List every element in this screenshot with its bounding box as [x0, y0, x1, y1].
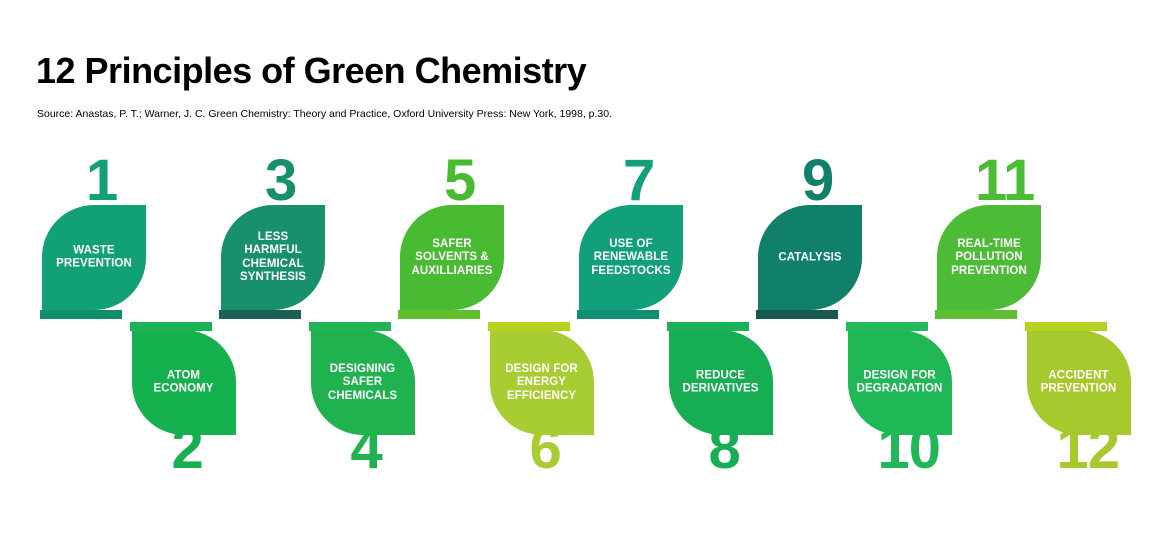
principle-number-8: 8	[709, 420, 740, 478]
principle-label-9: CATALYSIS	[758, 251, 862, 265]
infographic-canvas: 12 Principles of Green Chemistry Source:…	[0, 0, 1155, 539]
principle-label-12: ACCIDENT PREVENTION	[1027, 369, 1131, 396]
principle-number-5: 5	[444, 152, 475, 210]
principle-number-12: 12	[1057, 420, 1120, 478]
leaf-shape-11[interactable]: REAL-TIME POLLUTION PREVENTION	[937, 205, 1041, 310]
principle-number-4: 4	[351, 420, 382, 478]
connector-bar-1	[40, 310, 122, 319]
leaf-shape-1[interactable]: WASTE PREVENTION	[42, 205, 146, 310]
principle-number-2: 2	[172, 420, 203, 478]
principle-number-1: 1	[86, 152, 117, 210]
source-citation: Source: Anastas, P. T.; Warner, J. C. Gr…	[37, 108, 612, 120]
page-title: 12 Principles of Green Chemistry	[36, 53, 586, 89]
connector-bar-3	[219, 310, 301, 319]
connector-bar-9	[756, 310, 838, 319]
principle-number-7: 7	[623, 152, 654, 210]
principle-label-7: USE OF RENEWABLE FEEDSTOCKS	[579, 237, 683, 278]
principle-label-8: REDUCE DERIVATIVES	[669, 369, 773, 396]
principle-label-11: REAL-TIME POLLUTION PREVENTION	[937, 237, 1041, 278]
connector-bar-6	[488, 322, 570, 331]
connector-bar-11	[935, 310, 1017, 319]
leaf-shape-3[interactable]: LESS HARMFUL CHEMICAL SYNTHESIS	[221, 205, 325, 310]
principle-number-9: 9	[802, 152, 833, 210]
principle-number-11: 11	[975, 152, 1034, 210]
principle-number-3: 3	[265, 152, 296, 210]
connector-bar-10	[846, 322, 928, 331]
principle-label-3: LESS HARMFUL CHEMICAL SYNTHESIS	[221, 231, 325, 285]
principle-number-6: 6	[530, 420, 561, 478]
principle-label-2: ATOM ECONOMY	[132, 369, 236, 396]
principle-label-1: WASTE PREVENTION	[42, 244, 146, 271]
principle-label-10: DESIGN FOR DEGRADATION	[848, 369, 952, 396]
principle-label-5: SAFER SOLVENTS & AUXILLIARIES	[400, 237, 504, 278]
connector-bar-7	[577, 310, 659, 319]
principle-number-10: 10	[878, 420, 941, 478]
leaf-shape-5[interactable]: SAFER SOLVENTS & AUXILLIARIES	[400, 205, 504, 310]
connector-bar-12	[1025, 322, 1107, 331]
connector-bar-2	[130, 322, 212, 331]
connector-bar-8	[667, 322, 749, 331]
principle-label-4: DESIGNING SAFER CHEMICALS	[311, 362, 415, 403]
leaf-shape-7[interactable]: USE OF RENEWABLE FEEDSTOCKS	[579, 205, 683, 310]
principle-label-6: DESIGN FOR ENERGY EFFICIENCY	[490, 362, 594, 403]
connector-bar-4	[309, 322, 391, 331]
connector-bar-5	[398, 310, 480, 319]
leaf-shape-9[interactable]: CATALYSIS	[758, 205, 862, 310]
